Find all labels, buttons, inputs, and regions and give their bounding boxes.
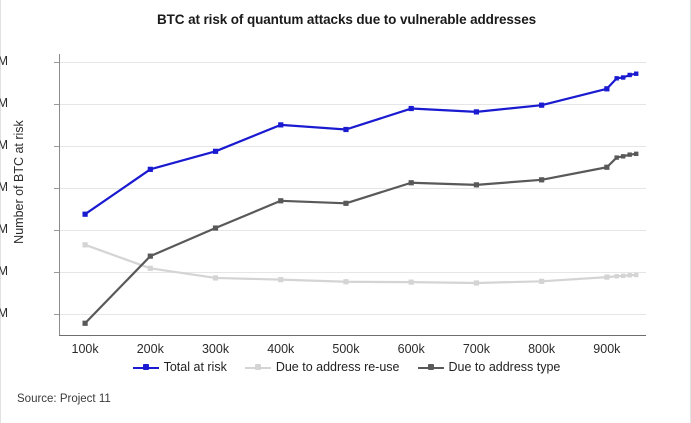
y-tick-label: 1M [0,306,8,320]
legend-swatch-icon [133,362,159,373]
x-tick-label: 100k [50,342,120,356]
series-layer [59,54,646,335]
data-point-marker [278,198,283,203]
legend-item[interactable]: Due to address re-use [245,360,400,374]
data-point-marker [621,75,625,79]
data-point-marker [474,109,479,114]
data-point-marker [213,225,218,230]
legend-item[interactable]: Due to address type [418,360,561,374]
x-tick-label: 600k [376,342,446,356]
legend-item[interactable]: Total at risk [133,360,227,374]
data-point-marker [82,321,87,326]
x-tick-label: 400k [246,342,316,356]
data-point-marker [604,86,609,91]
data-point-marker [82,242,87,247]
data-point-marker [634,273,638,277]
x-tick-label: 200k [115,342,185,356]
source-note: Source: Project 11 [17,393,111,405]
chart-legend: Total at riskDue to address re-useDue to… [1,360,691,374]
data-point-marker [82,212,87,217]
data-point-marker [614,76,618,80]
series-line [85,245,636,283]
x-tick-label: 300k [181,342,251,356]
data-point-marker [627,73,631,77]
data-point-marker [604,165,609,170]
y-tick-label: 3M [0,222,8,236]
x-tick-label: 800k [507,342,577,356]
plot-area: 1M2M3M4M5M6M7M 100k200k300k400k500k600k7… [59,54,646,335]
series-line [85,74,636,215]
chart-page: BTC at risk of quantum attacks due to vu… [0,0,691,423]
data-point-marker [474,280,479,285]
y-tick-label: 6M [0,96,8,110]
y-axis-title: Number of BTC at risk [12,82,26,282]
y-tick-label: 5M [0,138,8,152]
data-point-marker [343,127,348,132]
legend-label: Due to address re-use [276,360,400,374]
data-point-marker [278,277,283,282]
data-point-marker [614,155,618,159]
x-axis-line [59,335,646,336]
x-tick-label: 500k [311,342,381,356]
data-point-marker [409,106,414,111]
data-point-marker [627,273,631,277]
data-point-marker [634,72,638,76]
legend-swatch-icon [418,362,444,373]
data-point-marker [614,274,618,278]
data-point-marker [148,266,153,271]
data-point-marker [539,177,544,182]
page-title: BTC at risk of quantum attacks due to vu… [1,12,691,27]
legend-label: Total at risk [164,360,227,374]
y-tick-label: 4M [0,180,8,194]
data-point-marker [474,182,479,187]
data-point-marker [621,274,625,278]
x-tick-label: 900k [572,342,642,356]
data-point-marker [634,152,638,156]
data-point-marker [604,275,609,280]
legend-swatch-icon [245,362,271,373]
data-point-marker [627,152,631,156]
data-point-marker [539,279,544,284]
y-tick-label: 7M [0,54,8,68]
data-point-marker [213,275,218,280]
data-point-marker [621,154,625,158]
data-point-marker [409,180,414,185]
data-point-marker [539,103,544,108]
data-point-marker [148,167,153,172]
y-tick-label: 2M [0,264,8,278]
data-point-marker [278,122,283,127]
data-point-marker [213,149,218,154]
series-line [85,154,636,323]
data-point-marker [343,279,348,284]
data-point-marker [148,254,153,259]
data-point-marker [409,280,414,285]
x-tick-label: 700k [441,342,511,356]
data-point-marker [343,201,348,206]
legend-label: Due to address type [449,360,561,374]
